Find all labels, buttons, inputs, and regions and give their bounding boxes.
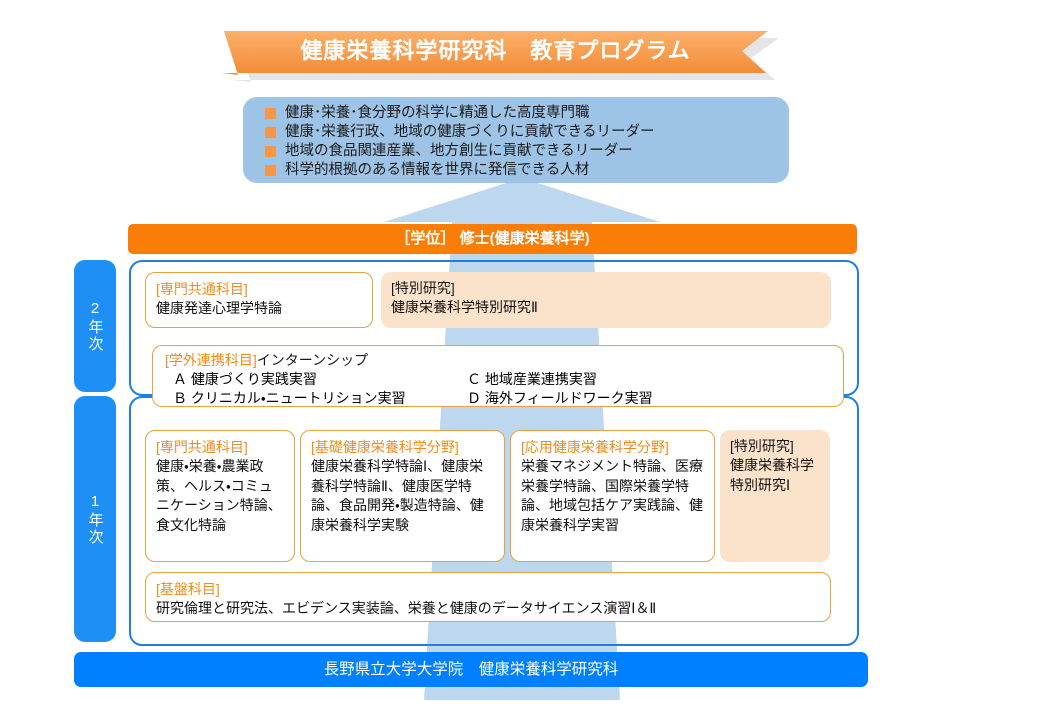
card-heading: [特別研究] [730,437,820,456]
card-heading: [学外連携科目]インターンシップ [165,351,833,370]
card-body: 健康発達心理学特論 [156,299,362,319]
page-title: 健康栄養科学研究科 教育プログラム [218,27,773,75]
bullet-square-icon [265,146,276,157]
year1-basic-field-card: [基礎健康栄養科学分野] 健康栄養科学特論Ⅰ、健康栄養科学特論Ⅱ、健康医学特論、… [300,430,505,562]
goal-item: 健康･栄養行政、地域の健康づくりに貢献できるリーダー [265,123,789,142]
bullet-square-icon [265,108,276,119]
card-heading: [専門共通科目] [156,280,362,299]
internship-column-right: Ｃ 地域産業連携実習 Ｄ 海外フィールドワーク実習 [463,370,653,408]
goal-label: 科学的根拠のある情報を世界に発信できる人材 [285,161,589,180]
year-tab-2: 2年次 [74,260,116,392]
card-body: 栄養マネジメント特論、医療栄養学特論、国際栄養学特論、地域包括ケア実践論、健康栄… [521,457,704,535]
goal-label: 地域の食品関連産業、地方創生に貢献できるリーダー [285,142,633,161]
card-body: 健康栄養科学特論Ⅰ、健康栄養科学特論Ⅱ、健康医学特論、食品開発・製造特論、健康栄… [311,457,494,535]
program-diagram: 健康栄養科学研究科 教育プログラム 健康･栄養･食分野の科学に精通した高度専門職… [0,0,1040,720]
card-heading: [基盤科目] [156,580,820,599]
year-tab-1: 1年次 [74,396,116,642]
year-tab-2-label: 2年次 [88,300,103,353]
degree-bar: ［学位］ 修士(健康栄養科学) [128,224,857,254]
goal-item: 科学的根拠のある情報を世界に発信できる人材 [265,161,789,180]
year2-common-subjects-card: [専門共通科目] 健康発達心理学特論 [145,272,373,328]
goal-label: 健康･栄養行政、地域の健康づくりに貢献できるリーダー [285,123,654,142]
internship-item: Ｃ 地域産業連携実習 [467,370,653,389]
goal-item: 健康･栄養･食分野の科学に精通した高度専門職 [265,104,789,123]
internship-column-left: Ａ 健康づくり実践実習 Ｂ クリニカル・ニュートリション実習 [165,370,463,408]
year1-special-research-card: [特別研究] 健康栄養科学特別研究Ⅰ [720,430,830,562]
goal-item: 地域の食品関連産業、地方創生に貢献できるリーダー [265,142,789,161]
card-heading-tag: [学外連携科目] [165,352,257,368]
card-heading: [特別研究] [391,279,821,298]
internship-card: [学外連携科目]インターンシップ Ａ 健康づくり実践実習 Ｂ クリニカル・ニュー… [152,345,844,407]
year2-special-research-card: [特別研究] 健康栄養科学特別研究Ⅱ [381,272,831,328]
title-banner: 健康栄養科学研究科 教育プログラム [218,27,783,83]
internship-item: Ｄ 海外フィールドワーク実習 [467,389,653,408]
internship-item: Ａ 健康づくり実践実習 [173,370,463,389]
goals-box: 健康･栄養･食分野の科学に精通した高度専門職 健康･栄養行政、地域の健康づくりに… [243,97,789,183]
card-body: 研究倫理と研究法、エビデンス実装論、栄養と健康のデータサイエンス演習Ⅰ＆Ⅱ [156,599,820,619]
bullet-square-icon [265,127,276,138]
year1-common-subjects-card: [専門共通科目] 健康・栄養・農業政策、ヘルス・コミュニケーション特論、食文化特… [145,430,295,562]
card-body: 健康栄養科学特別研究Ⅱ [391,298,821,318]
internship-item: Ｂ クリニカル・ニュートリション実習 [173,389,463,408]
year1-applied-field-card: [応用健康栄養科学分野] 栄養マネジメント特論、医療栄養学特論、国際栄養学特論、… [510,430,715,562]
card-heading: [専門共通科目] [156,438,284,457]
card-body: 健康・栄養・農業政策、ヘルス・コミュニケーション特論、食文化特論 [156,457,284,535]
year-tab-1-label: 1年次 [88,493,103,546]
card-heading: [基礎健康栄養科学分野] [311,438,494,457]
card-heading-rest: インターンシップ [257,352,368,368]
goal-label: 健康･栄養･食分野の科学に精通した高度専門職 [285,104,590,123]
card-body: 健康栄養科学特別研究Ⅰ [730,456,820,495]
bullet-square-icon [265,165,276,176]
year1-foundation-subjects-card: [基盤科目] 研究倫理と研究法、エビデンス実装論、栄養と健康のデータサイエンス演… [145,572,831,622]
footer-bar: 長野県立大学大学院 健康栄養科学研究科 [74,652,868,687]
card-heading: [応用健康栄養科学分野] [521,438,704,457]
